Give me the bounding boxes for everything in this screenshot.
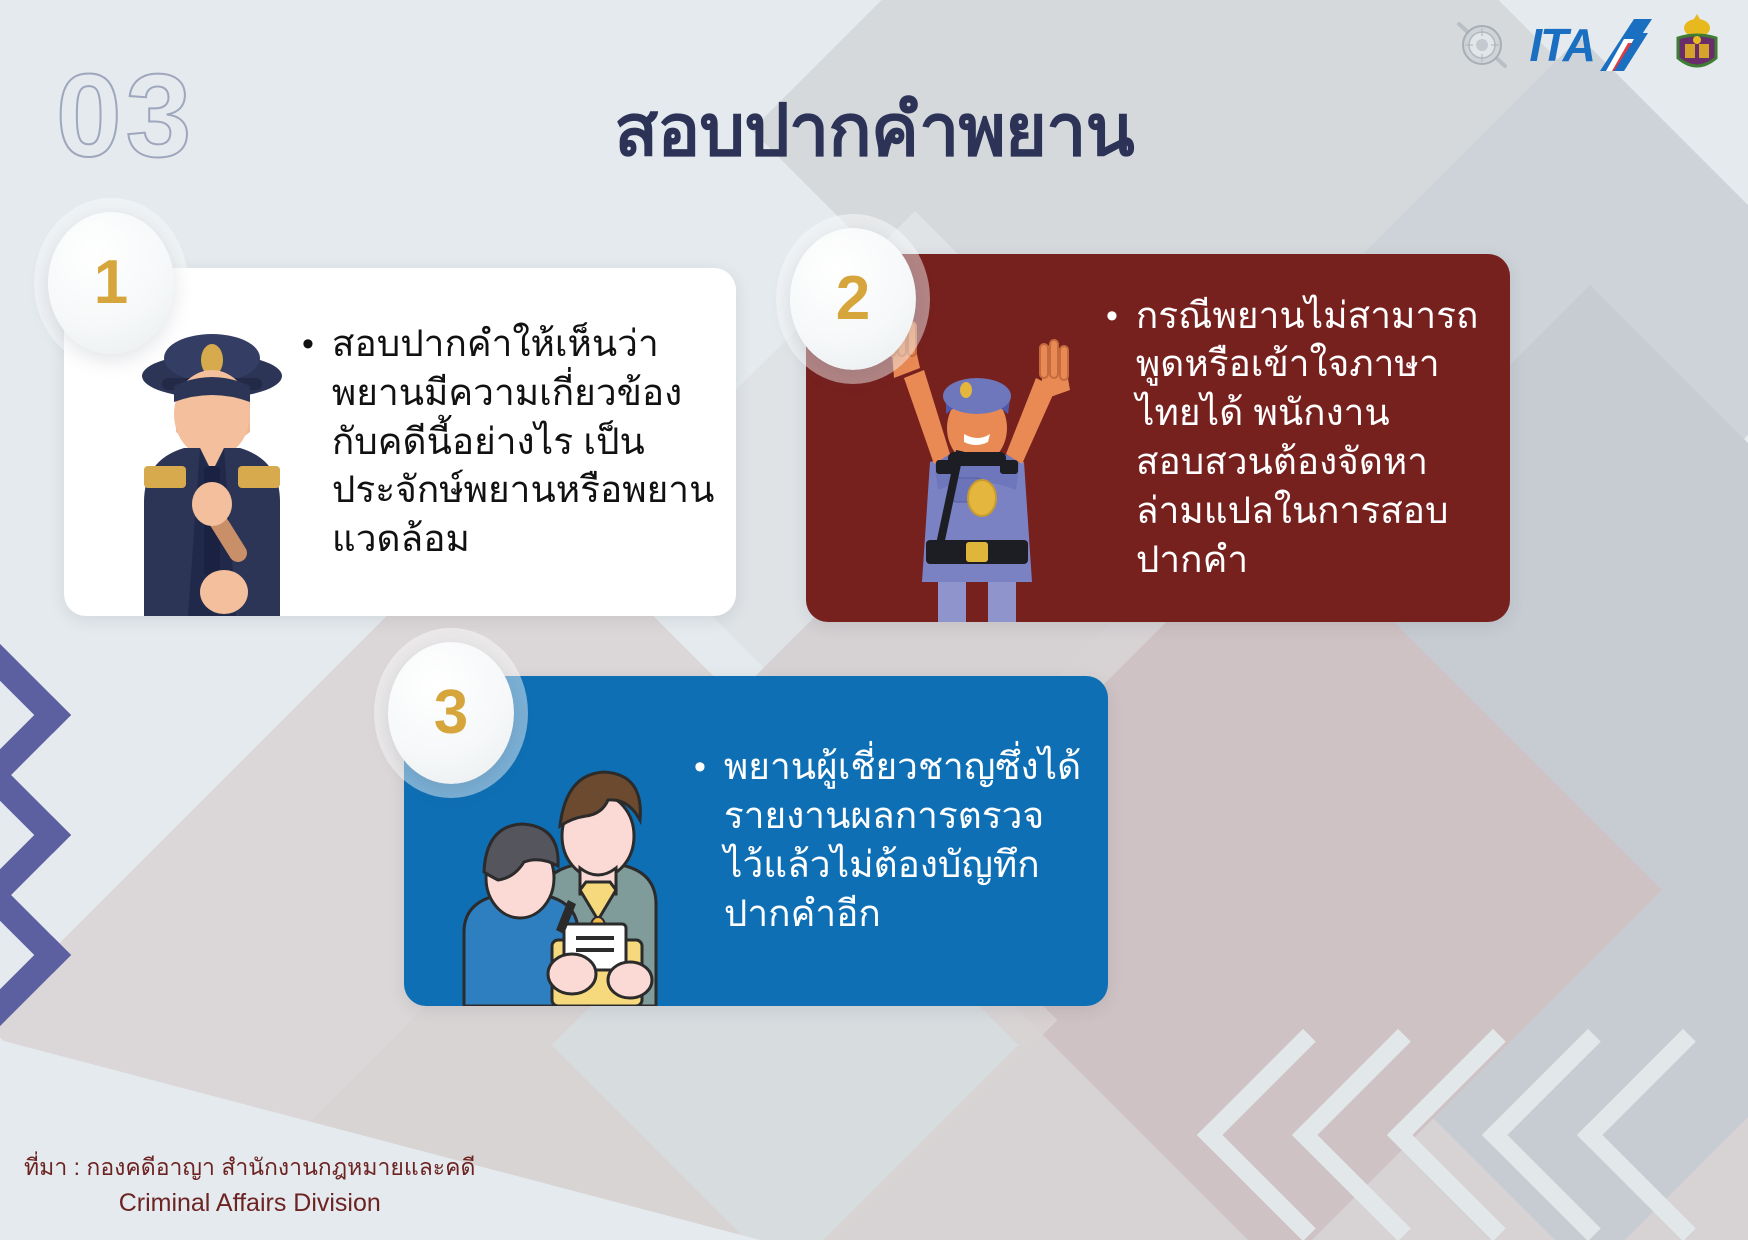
bullet-icon: • <box>694 743 706 788</box>
card-1-text: สอบปากคำให้เห็นว่าพยานมีความเกี่ยวข้องกั… <box>332 320 716 564</box>
department-crest-icon <box>1670 12 1724 78</box>
royal-thai-police-seal-icon <box>1449 12 1515 78</box>
chevron-decoration-left <box>0 620 190 1050</box>
card-3-number: 3 <box>434 682 468 744</box>
bullet-icon: • <box>302 320 314 365</box>
card-3-text: พยานผู้เชี่ยวชาญซึ่งได้รายงานผลการตรวจไว… <box>724 743 1082 938</box>
page-title: สอบปากคำพยาน <box>0 72 1748 187</box>
card-1-text-block: • สอบปากคำให้เห็นว่าพยานมีความเกี่ยวข้อง… <box>302 320 736 564</box>
card-3-number-badge: 3 <box>388 642 514 784</box>
slide-canvas: 03 สอบปากคำพยาน ITA <box>0 0 1748 1240</box>
logo-group: ITA <box>1449 12 1724 78</box>
card-2-text: กรณีพยานไม่สามารถพูดหรือเข้าใจภาษาไทยได้… <box>1136 292 1486 585</box>
card-1-number: 1 <box>94 252 128 314</box>
ita-logo-text: ITA <box>1529 22 1594 68</box>
ita-swoosh-icon <box>1594 17 1656 73</box>
bullet-icon: • <box>1106 292 1118 337</box>
footer-source-english: Criminal Affairs Division <box>24 1185 475 1223</box>
card-2-number: 2 <box>836 268 870 330</box>
chevron-decoration-right <box>1258 950 1748 1240</box>
ita-logo: ITA <box>1529 17 1656 73</box>
footer-source-thai: ที่มา : กองคดีอาญา สำนักงานกฎหมายและคดี <box>24 1150 475 1185</box>
card-2-text-block: • กรณีพยานไม่สามารถพูดหรือเข้าใจภาษาไทยไ… <box>1106 292 1510 585</box>
card-3-text-block: • พยานผู้เชี่ยวชาญซึ่งได้รายงานผลการตรวจ… <box>694 743 1108 938</box>
card-2-number-badge: 2 <box>790 228 916 370</box>
two-people-interview-with-clipboard-illustration <box>444 754 714 1006</box>
footer-source: ที่มา : กองคดีอาญา สำนักงานกฎหมายและคดี … <box>24 1150 475 1222</box>
info-card-1[interactable]: • สอบปากคำให้เห็นว่าพยานมีความเกี่ยวข้อง… <box>64 268 736 616</box>
police-officer-with-baton-illustration <box>104 316 324 616</box>
card-1-number-badge: 1 <box>48 212 174 354</box>
